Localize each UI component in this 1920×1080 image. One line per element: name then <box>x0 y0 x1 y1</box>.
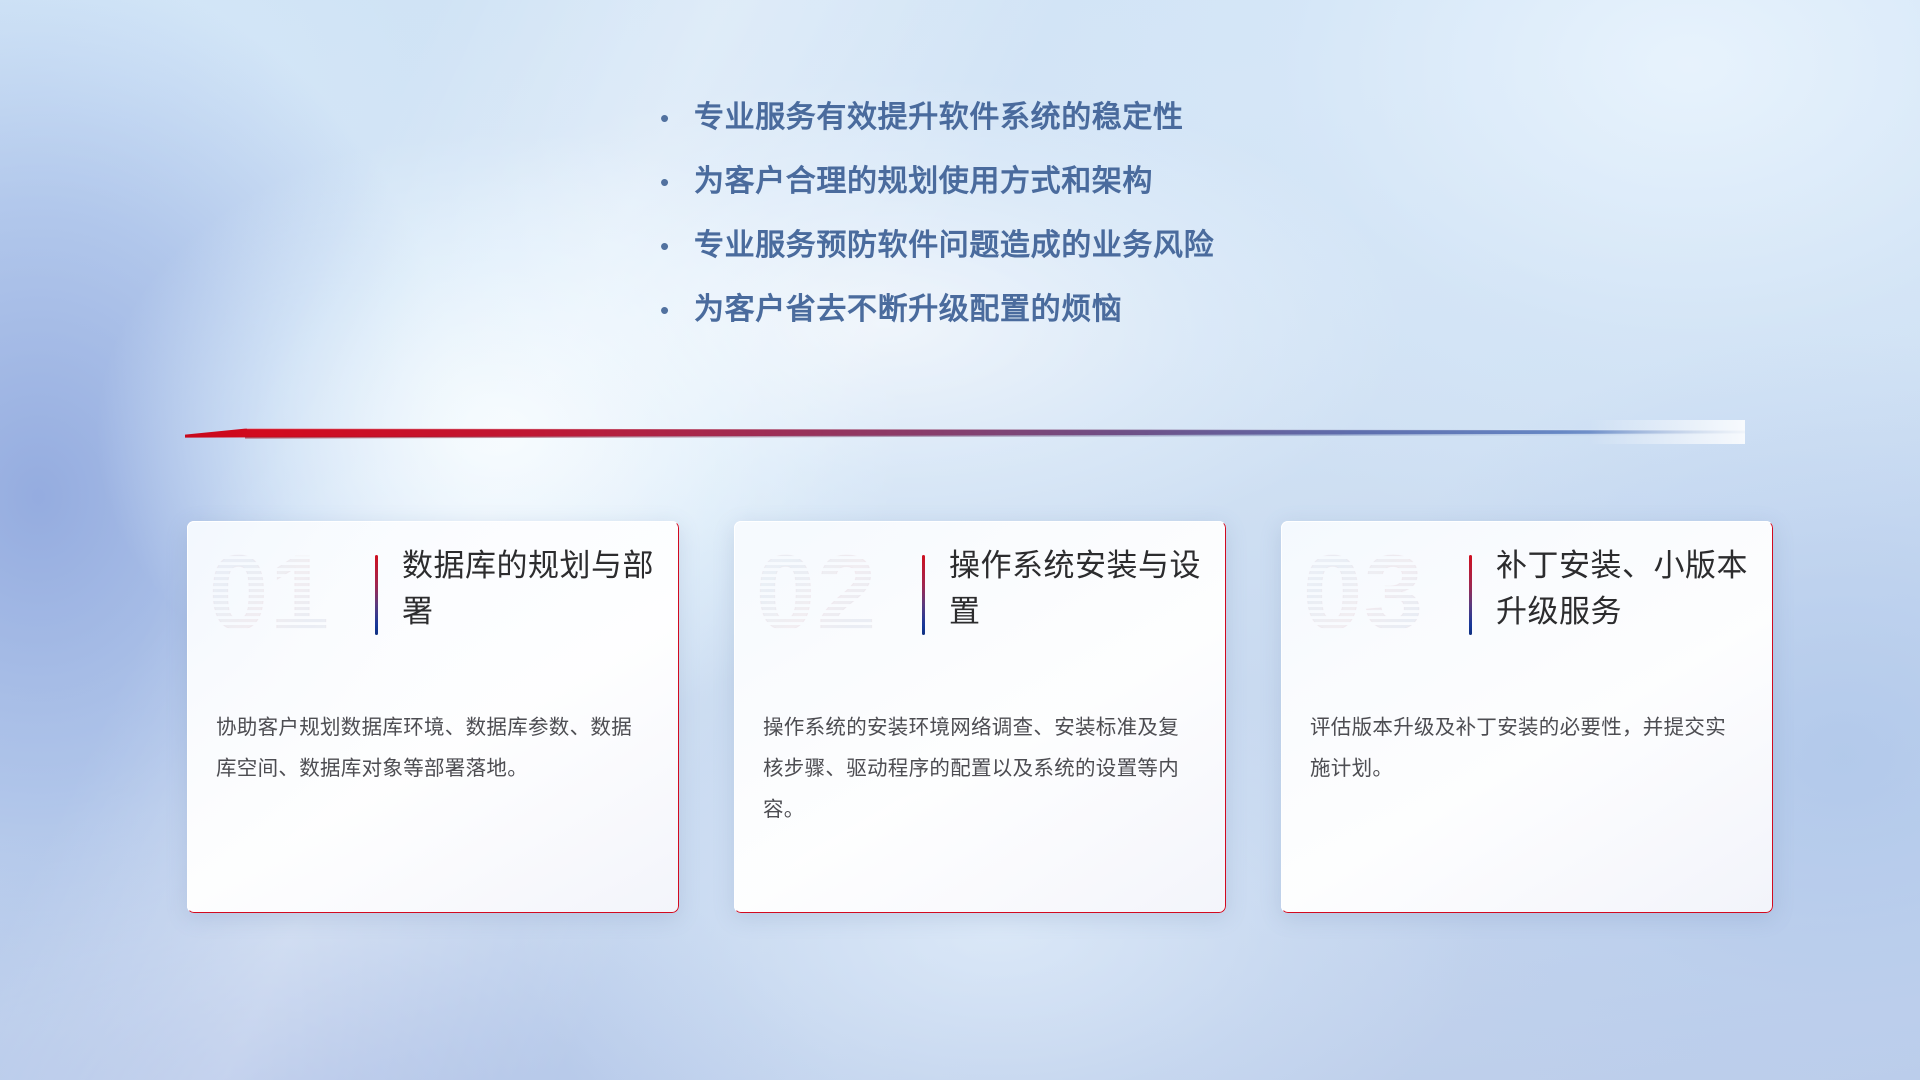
bullet-text: 为客户省去不断升级配置的烦恼 <box>694 288 1122 332</box>
service-card[interactable]: 01 01 数据库的规划与部署 协助客户规划数据库环境、数据库参数、数据库空间、… <box>187 521 679 913</box>
list-item: • 为客户省去不断升级配置的烦恼 <box>660 288 1214 352</box>
striped-number-03-icon: 03 03 <box>1301 535 1441 651</box>
list-item: • 专业服务预防软件问题造成的业务风险 <box>660 224 1214 288</box>
card-accent-bar <box>1469 555 1472 635</box>
bullet-dot-icon: • <box>660 288 694 332</box>
card-title: 数据库的规划与部署 <box>402 543 667 635</box>
card-accent-bar <box>375 555 378 635</box>
service-card-list: 01 01 数据库的规划与部署 协助客户规划数据库环境、数据库参数、数据库空间、… <box>187 521 1773 916</box>
striped-number-01-icon: 01 01 <box>207 535 347 651</box>
card-header: 03 03 补丁安装、小版本升级服务 <box>1281 521 1773 671</box>
striped-number-02-icon: 02 02 <box>754 535 894 651</box>
card-number-watermark: 01 01 <box>207 535 347 651</box>
svg-text:03: 03 <box>1303 535 1425 651</box>
card-header: 02 02 操作系统安装与设置 <box>734 521 1226 671</box>
card-accent-bar <box>922 555 925 635</box>
tapered-divider-icon <box>185 420 1745 444</box>
bullet-dot-icon: • <box>660 96 694 140</box>
card-header: 01 01 数据库的规划与部署 <box>187 521 679 671</box>
service-card[interactable]: 02 02 操作系统安装与设置 操作系统的安装环境网络调查、安装标准及复核步骤、… <box>734 521 1226 913</box>
svg-text:01: 01 <box>209 535 331 651</box>
service-card[interactable]: 03 03 补丁安装、小版本升级服务 评估版本升级及补丁安装的必要性，并提交实施… <box>1281 521 1773 913</box>
bullet-dot-icon: • <box>660 224 694 268</box>
card-title: 操作系统安装与设置 <box>949 543 1214 635</box>
card-number-watermark: 02 02 <box>754 535 894 651</box>
section-divider <box>185 420 1745 444</box>
bullet-text: 专业服务有效提升软件系统的稳定性 <box>694 96 1184 140</box>
bullet-text: 专业服务预防软件问题造成的业务风险 <box>694 224 1214 268</box>
bullet-text: 为客户合理的规划使用方式和架构 <box>694 160 1153 204</box>
list-item: • 为客户合理的规划使用方式和架构 <box>660 160 1214 224</box>
card-title: 补丁安装、小版本升级服务 <box>1496 543 1761 635</box>
bullet-dot-icon: • <box>660 160 694 204</box>
svg-text:02: 02 <box>756 535 878 651</box>
card-number-watermark: 03 03 <box>1301 535 1441 651</box>
card-body-text: 协助客户规划数据库环境、数据库参数、数据库空间、数据库对象等部署落地。 <box>216 707 651 789</box>
benefits-bullet-list: • 专业服务有效提升软件系统的稳定性 • 为客户合理的规划使用方式和架构 • 专… <box>660 96 1214 352</box>
card-body-text: 操作系统的安装环境网络调查、安装标准及复核步骤、驱动程序的配置以及系统的设置等内… <box>763 707 1198 830</box>
list-item: • 专业服务有效提升软件系统的稳定性 <box>660 96 1214 160</box>
card-body-text: 评估版本升级及补丁安装的必要性，并提交实施计划。 <box>1310 707 1745 789</box>
